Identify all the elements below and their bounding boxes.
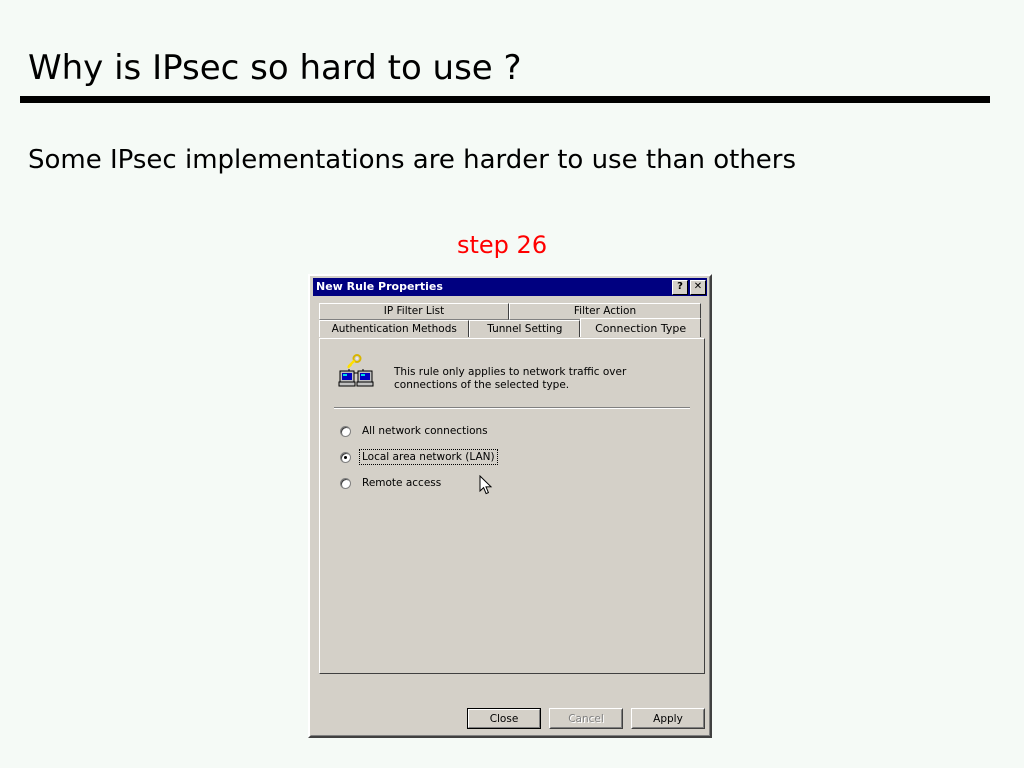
tab-strip: IP Filter List Filter Action Authenticat…	[319, 303, 701, 337]
radio-icon[interactable]	[340, 426, 351, 437]
radio-label: Remote access	[360, 476, 443, 490]
radio-option-all-network-connections[interactable]: All network connections	[340, 424, 497, 438]
radio-icon-selected[interactable]	[340, 452, 351, 463]
step-label: step 26	[457, 231, 547, 259]
apply-button[interactable]: Apply	[631, 708, 705, 729]
dialog-title: New Rule Properties	[316, 278, 670, 296]
page-title: Why is IPsec so hard to use ?	[28, 48, 522, 88]
cancel-button: Cancel	[549, 708, 623, 729]
new-rule-properties-dialog: New Rule Properties ? ✕ IP Filter List F…	[308, 274, 712, 738]
tab-ip-filter-list[interactable]: IP Filter List	[319, 303, 509, 320]
radio-option-local-area-network[interactable]: Local area network (LAN)	[340, 450, 497, 464]
tab-authentication-methods[interactable]: Authentication Methods	[319, 320, 469, 337]
description-block: This rule only applies to network traffi…	[338, 352, 690, 392]
slide-subtitle: Some IPsec implementations are harder to…	[28, 145, 796, 175]
cancel-button-label: Cancel	[568, 713, 604, 725]
tab-tunnel-setting[interactable]: Tunnel Setting	[469, 320, 580, 337]
connection-type-panel: This rule only applies to network traffi…	[319, 338, 705, 674]
two-computers-with-key-icon	[338, 354, 374, 388]
panel-separator	[334, 407, 690, 409]
radio-label: All network connections	[360, 424, 490, 438]
close-dialog-button[interactable]: Close	[467, 708, 541, 729]
close-icon[interactable]: ✕	[690, 280, 706, 295]
radio-icon[interactable]	[340, 478, 351, 489]
close-dialog-button-label: Close	[490, 713, 519, 725]
dialog-titlebar: New Rule Properties ? ✕	[313, 278, 707, 296]
tab-connection-type[interactable]: Connection Type	[580, 318, 701, 337]
title-divider	[20, 96, 990, 103]
help-icon[interactable]: ?	[672, 280, 688, 295]
radio-option-remote-access[interactable]: Remote access	[340, 476, 497, 490]
tab-row-bottom: Authentication Methods Tunnel Setting Co…	[319, 320, 701, 337]
panel-description: This rule only applies to network traffi…	[394, 352, 690, 392]
connection-type-radio-group: All network connections Local area netwo…	[340, 424, 497, 502]
radio-label: Local area network (LAN)	[360, 450, 497, 464]
apply-button-label: Apply	[653, 713, 683, 725]
dialog-footer: Close Cancel Apply	[310, 708, 710, 732]
